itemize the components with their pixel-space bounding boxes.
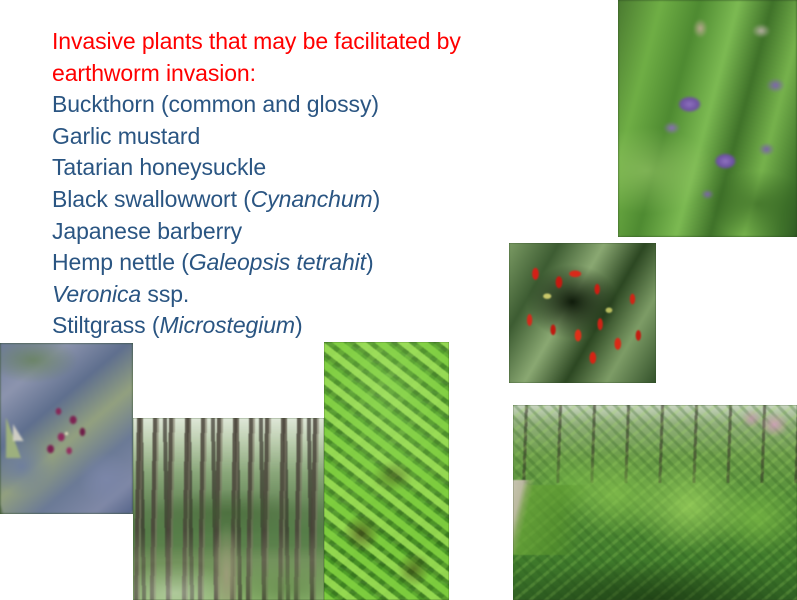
buckthorn-hedge-photo-art [513, 405, 797, 600]
plant-list-item-stiltgrass: Stiltgrass (Microstegium) [52, 310, 592, 342]
common-name: ) [366, 249, 374, 275]
common-name: ssp. [141, 281, 189, 307]
scientific-name: Cynanchum [251, 186, 373, 212]
buckthorn-hedge-photo [513, 405, 797, 600]
stiltgrass-photo-art [324, 342, 449, 600]
forest-understory-photo [133, 418, 324, 600]
hemp-nettle-photo-art [618, 0, 797, 237]
hemp-nettle-photo [618, 0, 797, 237]
scientific-name: Veronica [52, 281, 141, 307]
plant-list-item-hemp-nettle: Hemp nettle (Galeopsis tetrahit) [52, 247, 592, 279]
slide-heading-line-1: Invasive plants that may be facilitated … [52, 26, 592, 58]
slide-text-block: Invasive plants that may be facilitated … [52, 26, 592, 342]
plant-list-item-japanese-barberry: Japanese barberry [52, 216, 592, 248]
plant-list-item-buckthorn: Buckthorn (common and glossy) [52, 89, 592, 121]
black-swallowwort-photo [0, 343, 133, 514]
common-name: Tatarian honeysuckle [52, 154, 266, 180]
slide-heading-line-2: earthworm invasion: [52, 58, 592, 90]
black-swallowwort-photo-art [0, 343, 133, 514]
scientific-name: Galeopsis tetrahit [189, 249, 366, 275]
stiltgrass-photo [324, 342, 449, 600]
forest-understory-photo-art [133, 418, 324, 600]
common-name: ) [295, 312, 303, 338]
plant-list-item-black-swallowwort: Black swallowwort (Cynanchum) [52, 184, 592, 216]
plant-list-item-garlic-mustard: Garlic mustard [52, 121, 592, 153]
common-name: Garlic mustard [52, 123, 200, 149]
common-name: ) [373, 186, 381, 212]
common-name: Stiltgrass ( [52, 312, 159, 338]
plant-list-item-veronica: Veronica ssp. [52, 279, 592, 311]
plant-list-item-tatarian-honeysuckle: Tatarian honeysuckle [52, 152, 592, 184]
common-name: Buckthorn (common and glossy) [52, 91, 379, 117]
scientific-name: Microstegium [159, 312, 295, 338]
presentation-slide: Invasive plants that may be facilitated … [0, 0, 797, 600]
common-name: Hemp nettle ( [52, 249, 189, 275]
common-name: Black swallowwort ( [52, 186, 251, 212]
common-name: Japanese barberry [52, 218, 242, 244]
